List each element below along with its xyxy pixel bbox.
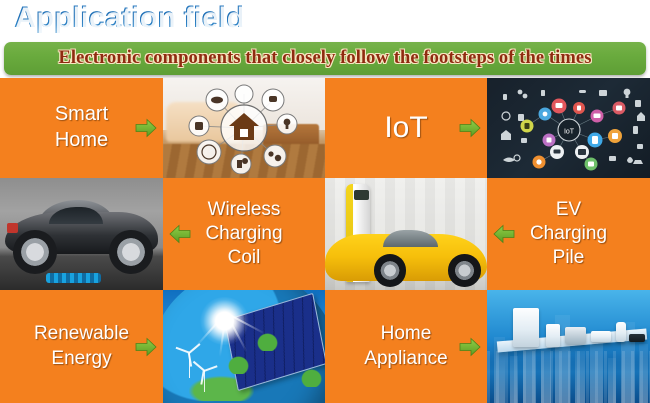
- cell-sports-car-image: [0, 178, 163, 290]
- cell-renewable-energy[interactable]: Renewable Energy: [0, 290, 163, 403]
- cell-label-renewable-energy: Renewable Energy: [28, 322, 135, 371]
- subtitle-banner: Electronic components that closely follo…: [4, 42, 646, 75]
- arrow-right-icon: [135, 337, 157, 356]
- ev-charging-photo: [325, 178, 487, 290]
- home-appliance-photo: [487, 290, 650, 403]
- cell-label-ev-charging-pile: EV Charging Pile: [524, 198, 613, 271]
- cell-label-home-appliance: Home Appliance: [358, 322, 453, 371]
- arrow-left-icon: [493, 225, 515, 244]
- smart-home-icon-ring: [179, 82, 309, 174]
- page-title: Application field: [14, 1, 244, 35]
- cell-smart-home-image: [163, 78, 325, 178]
- arrow-right-icon: [459, 337, 481, 356]
- cell-iot-image: IoT: [487, 78, 650, 178]
- renewable-energy-photo: [163, 290, 325, 403]
- sports-car-photo: [0, 178, 163, 290]
- slide-root: Application field Application field Elec…: [0, 0, 650, 403]
- cell-iot[interactable]: IoT: [325, 78, 487, 178]
- cell-home-appliance-image: [487, 290, 650, 403]
- iot-network-photo: IoT: [487, 78, 650, 178]
- cell-home-appliance[interactable]: Home Appliance: [325, 290, 487, 403]
- smart-home-photo: [163, 78, 325, 178]
- cell-ev-charging-image: [325, 178, 487, 290]
- cell-label-iot: IoT: [378, 109, 433, 147]
- cell-renewable-energy-image: [163, 290, 325, 403]
- cell-label-smart-home: Smart Home: [49, 102, 114, 153]
- arrow-left-icon: [169, 225, 191, 244]
- cell-wireless-charging-coil[interactable]: Wireless Charging Coil: [163, 178, 325, 290]
- subtitle-banner-text: Electronic components that closely follo…: [58, 48, 591, 69]
- cell-label-wireless-charging-coil: Wireless Charging Coil: [199, 198, 288, 271]
- application-grid: Smart Home: [0, 78, 650, 403]
- arrow-right-icon: [459, 119, 481, 138]
- svg-text:IoT: IoT: [564, 129, 575, 136]
- cell-ev-charging-pile[interactable]: EV Charging Pile: [487, 178, 650, 290]
- arrow-right-icon: [135, 119, 157, 138]
- iot-network-diagram: IoT: [487, 78, 650, 178]
- cell-smart-home[interactable]: Smart Home: [0, 78, 163, 178]
